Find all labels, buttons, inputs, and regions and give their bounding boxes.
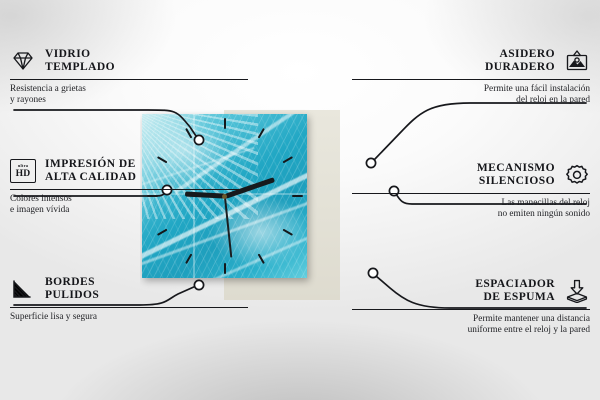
divider xyxy=(10,79,248,80)
ultra-hd-badge-icon: ultra HD xyxy=(10,159,36,183)
feature-title: MECANISMO SILENCIOSO xyxy=(477,162,555,189)
feature-mecanismo-silencioso: MECANISMO SILENCIOSO Las manecillas del … xyxy=(352,162,590,221)
feature-espaciador-de-espuma: ESPACIADOR DE ESPUMA Permite mantener un… xyxy=(352,278,590,337)
feature-description: Permite mantener una distancia uniforme … xyxy=(352,314,590,337)
feature-description: Superficie lisa y segura xyxy=(10,312,248,324)
feature-heading: ASIDERO DURADERO xyxy=(352,48,590,75)
feature-desc-line2: uniforme entre el reloj y la pared xyxy=(468,325,590,335)
feature-heading: ESPACIADOR DE ESPUMA xyxy=(352,278,590,305)
feature-desc-line2: del reloj en la pared xyxy=(516,95,590,105)
feature-title-line2: PULIDOS xyxy=(45,289,99,301)
feature-title-line1: ASIDERO xyxy=(499,48,555,60)
hd-label: HD xyxy=(16,169,31,179)
feature-title-line1: VIDRIO xyxy=(45,48,91,60)
infographic-canvas: VIDRIO TEMPLADO Resistencia a grietas y … xyxy=(0,0,600,400)
feature-desc-line1: Superficie lisa y segura xyxy=(10,312,97,322)
divider xyxy=(352,193,590,194)
feature-title-line1: ESPACIADOR xyxy=(475,278,555,290)
feature-description: Colores intensos e imagen vívida xyxy=(10,194,248,217)
gear-icon xyxy=(564,163,590,187)
feature-title-line1: BORDES xyxy=(45,276,95,288)
feature-desc-line2: e imagen vívida xyxy=(10,205,69,215)
feature-impresion-alta-calidad: ultra HD IMPRESIÓN DE ALTA CALIDAD Color… xyxy=(10,158,248,217)
feature-description: Las manecillas del reloj no emiten ningú… xyxy=(352,198,590,221)
feature-title-line2: DE ESPUMA xyxy=(484,291,555,303)
feature-vidrio-templado: VIDRIO TEMPLADO Resistencia a grietas y … xyxy=(10,48,248,107)
feature-description: Permite una fácil instalación del reloj … xyxy=(352,84,590,107)
polished-edge-icon xyxy=(10,277,36,301)
feature-desc-line1: Permite una fácil instalación xyxy=(484,84,590,94)
feature-title: ASIDERO DURADERO xyxy=(485,48,555,75)
feature-desc-line2: y rayones xyxy=(10,95,46,105)
feature-desc-line1: Permite mantener una distancia xyxy=(473,314,590,324)
feature-bordes-pulidos: BORDES PULIDOS Superficie lisa y segura xyxy=(10,276,248,323)
feature-heading: MECANISMO SILENCIOSO xyxy=(352,162,590,189)
feature-asidero-duradero: ASIDERO DURADERO Permite una fácil insta… xyxy=(352,48,590,107)
feature-title-line1: IMPRESIÓN DE xyxy=(45,158,136,170)
hanging-picture-icon xyxy=(564,49,590,73)
feature-heading: BORDES PULIDOS xyxy=(10,276,248,303)
diamond-icon xyxy=(10,49,36,73)
divider xyxy=(10,307,248,308)
feature-heading: VIDRIO TEMPLADO xyxy=(10,48,248,75)
feature-title-line2: DURADERO xyxy=(485,61,555,73)
feature-description: Resistencia a grietas y rayones xyxy=(10,84,248,107)
feature-title: IMPRESIÓN DE ALTA CALIDAD xyxy=(45,158,136,185)
divider xyxy=(352,79,590,80)
feature-desc-line1: Las manecillas del reloj xyxy=(501,198,590,208)
feature-title: BORDES PULIDOS xyxy=(45,276,99,303)
feature-heading: ultra HD IMPRESIÓN DE ALTA CALIDAD xyxy=(10,158,248,185)
arrow-down-pad-icon xyxy=(564,279,590,303)
divider xyxy=(352,309,590,310)
divider xyxy=(10,189,248,190)
feature-title-line2: TEMPLADO xyxy=(45,61,115,73)
feature-desc-line2: no emiten ningún sonido xyxy=(498,209,590,219)
feature-desc-line1: Colores intensos xyxy=(10,194,72,204)
feature-title: ESPACIADOR DE ESPUMA xyxy=(475,278,555,305)
feature-title-line1: MECANISMO xyxy=(477,162,555,174)
feature-title: VIDRIO TEMPLADO xyxy=(45,48,115,75)
feature-desc-line1: Resistencia a grietas xyxy=(10,84,86,94)
feature-title-line2: ALTA CALIDAD xyxy=(45,171,136,183)
feature-title-line2: SILENCIOSO xyxy=(479,175,555,187)
